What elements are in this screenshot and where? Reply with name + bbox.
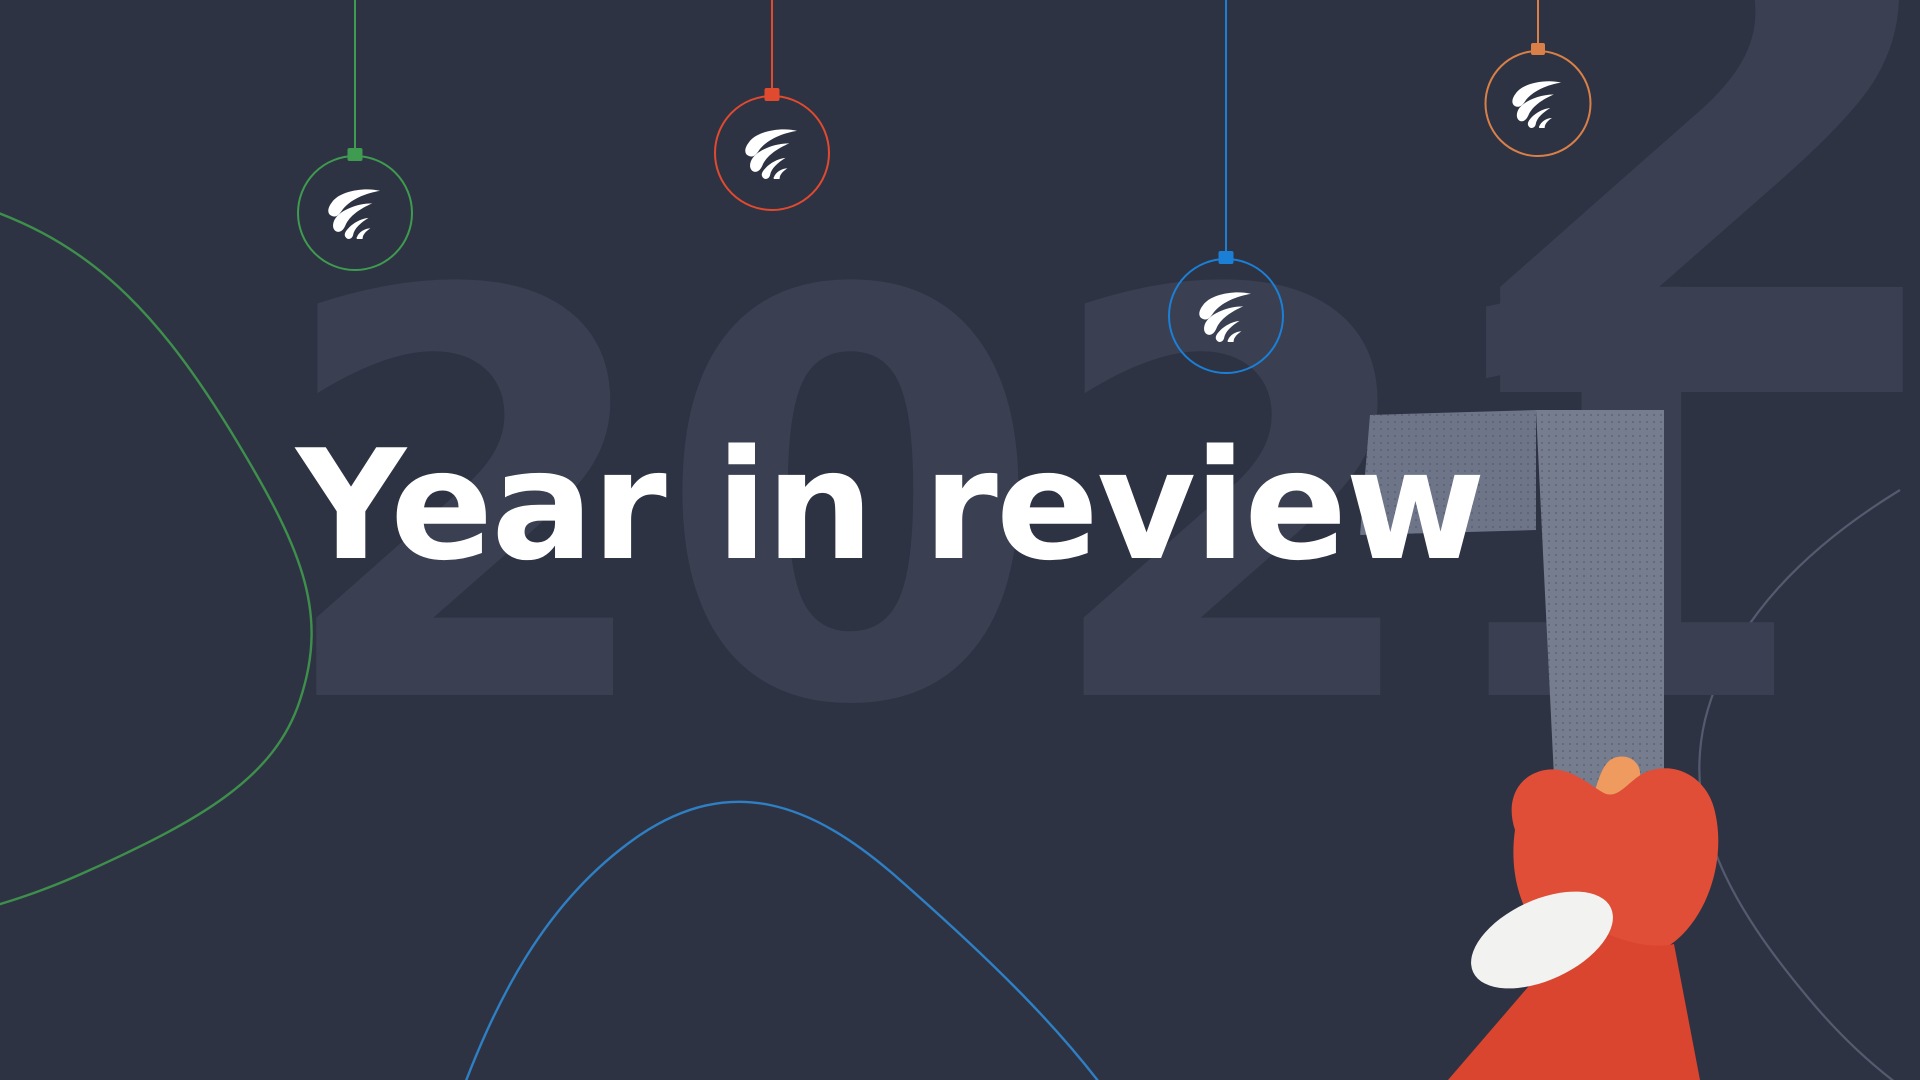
ornament-string-red xyxy=(771,0,773,95)
ornament-green[interactable] xyxy=(297,0,413,271)
ornament-string-blue xyxy=(1225,0,1227,258)
ornament-orange[interactable] xyxy=(1484,0,1591,157)
syncfusion-logo-icon xyxy=(324,187,386,239)
ornament-blue[interactable] xyxy=(1168,0,1284,374)
ornament-red[interactable] xyxy=(714,0,830,211)
syncfusion-logo-icon xyxy=(1195,290,1257,342)
syncfusion-logo-icon xyxy=(741,127,803,179)
ornament-ball-orange[interactable] xyxy=(1484,50,1591,157)
glove-cuff xyxy=(1456,872,1628,1009)
ornament-string-green xyxy=(354,0,356,155)
syncfusion-logo-icon xyxy=(1509,79,1567,128)
santa-sleeve xyxy=(1448,922,1700,1080)
ornament-ball-green[interactable] xyxy=(297,155,413,271)
blue-curve-line xyxy=(455,802,1105,1080)
page-title: Year in review xyxy=(296,430,1484,582)
ornament-ball-red[interactable] xyxy=(714,95,830,211)
ornament-ball-blue[interactable] xyxy=(1168,258,1284,374)
year-in-review-banner: 2 2021 xyxy=(0,0,1920,1080)
